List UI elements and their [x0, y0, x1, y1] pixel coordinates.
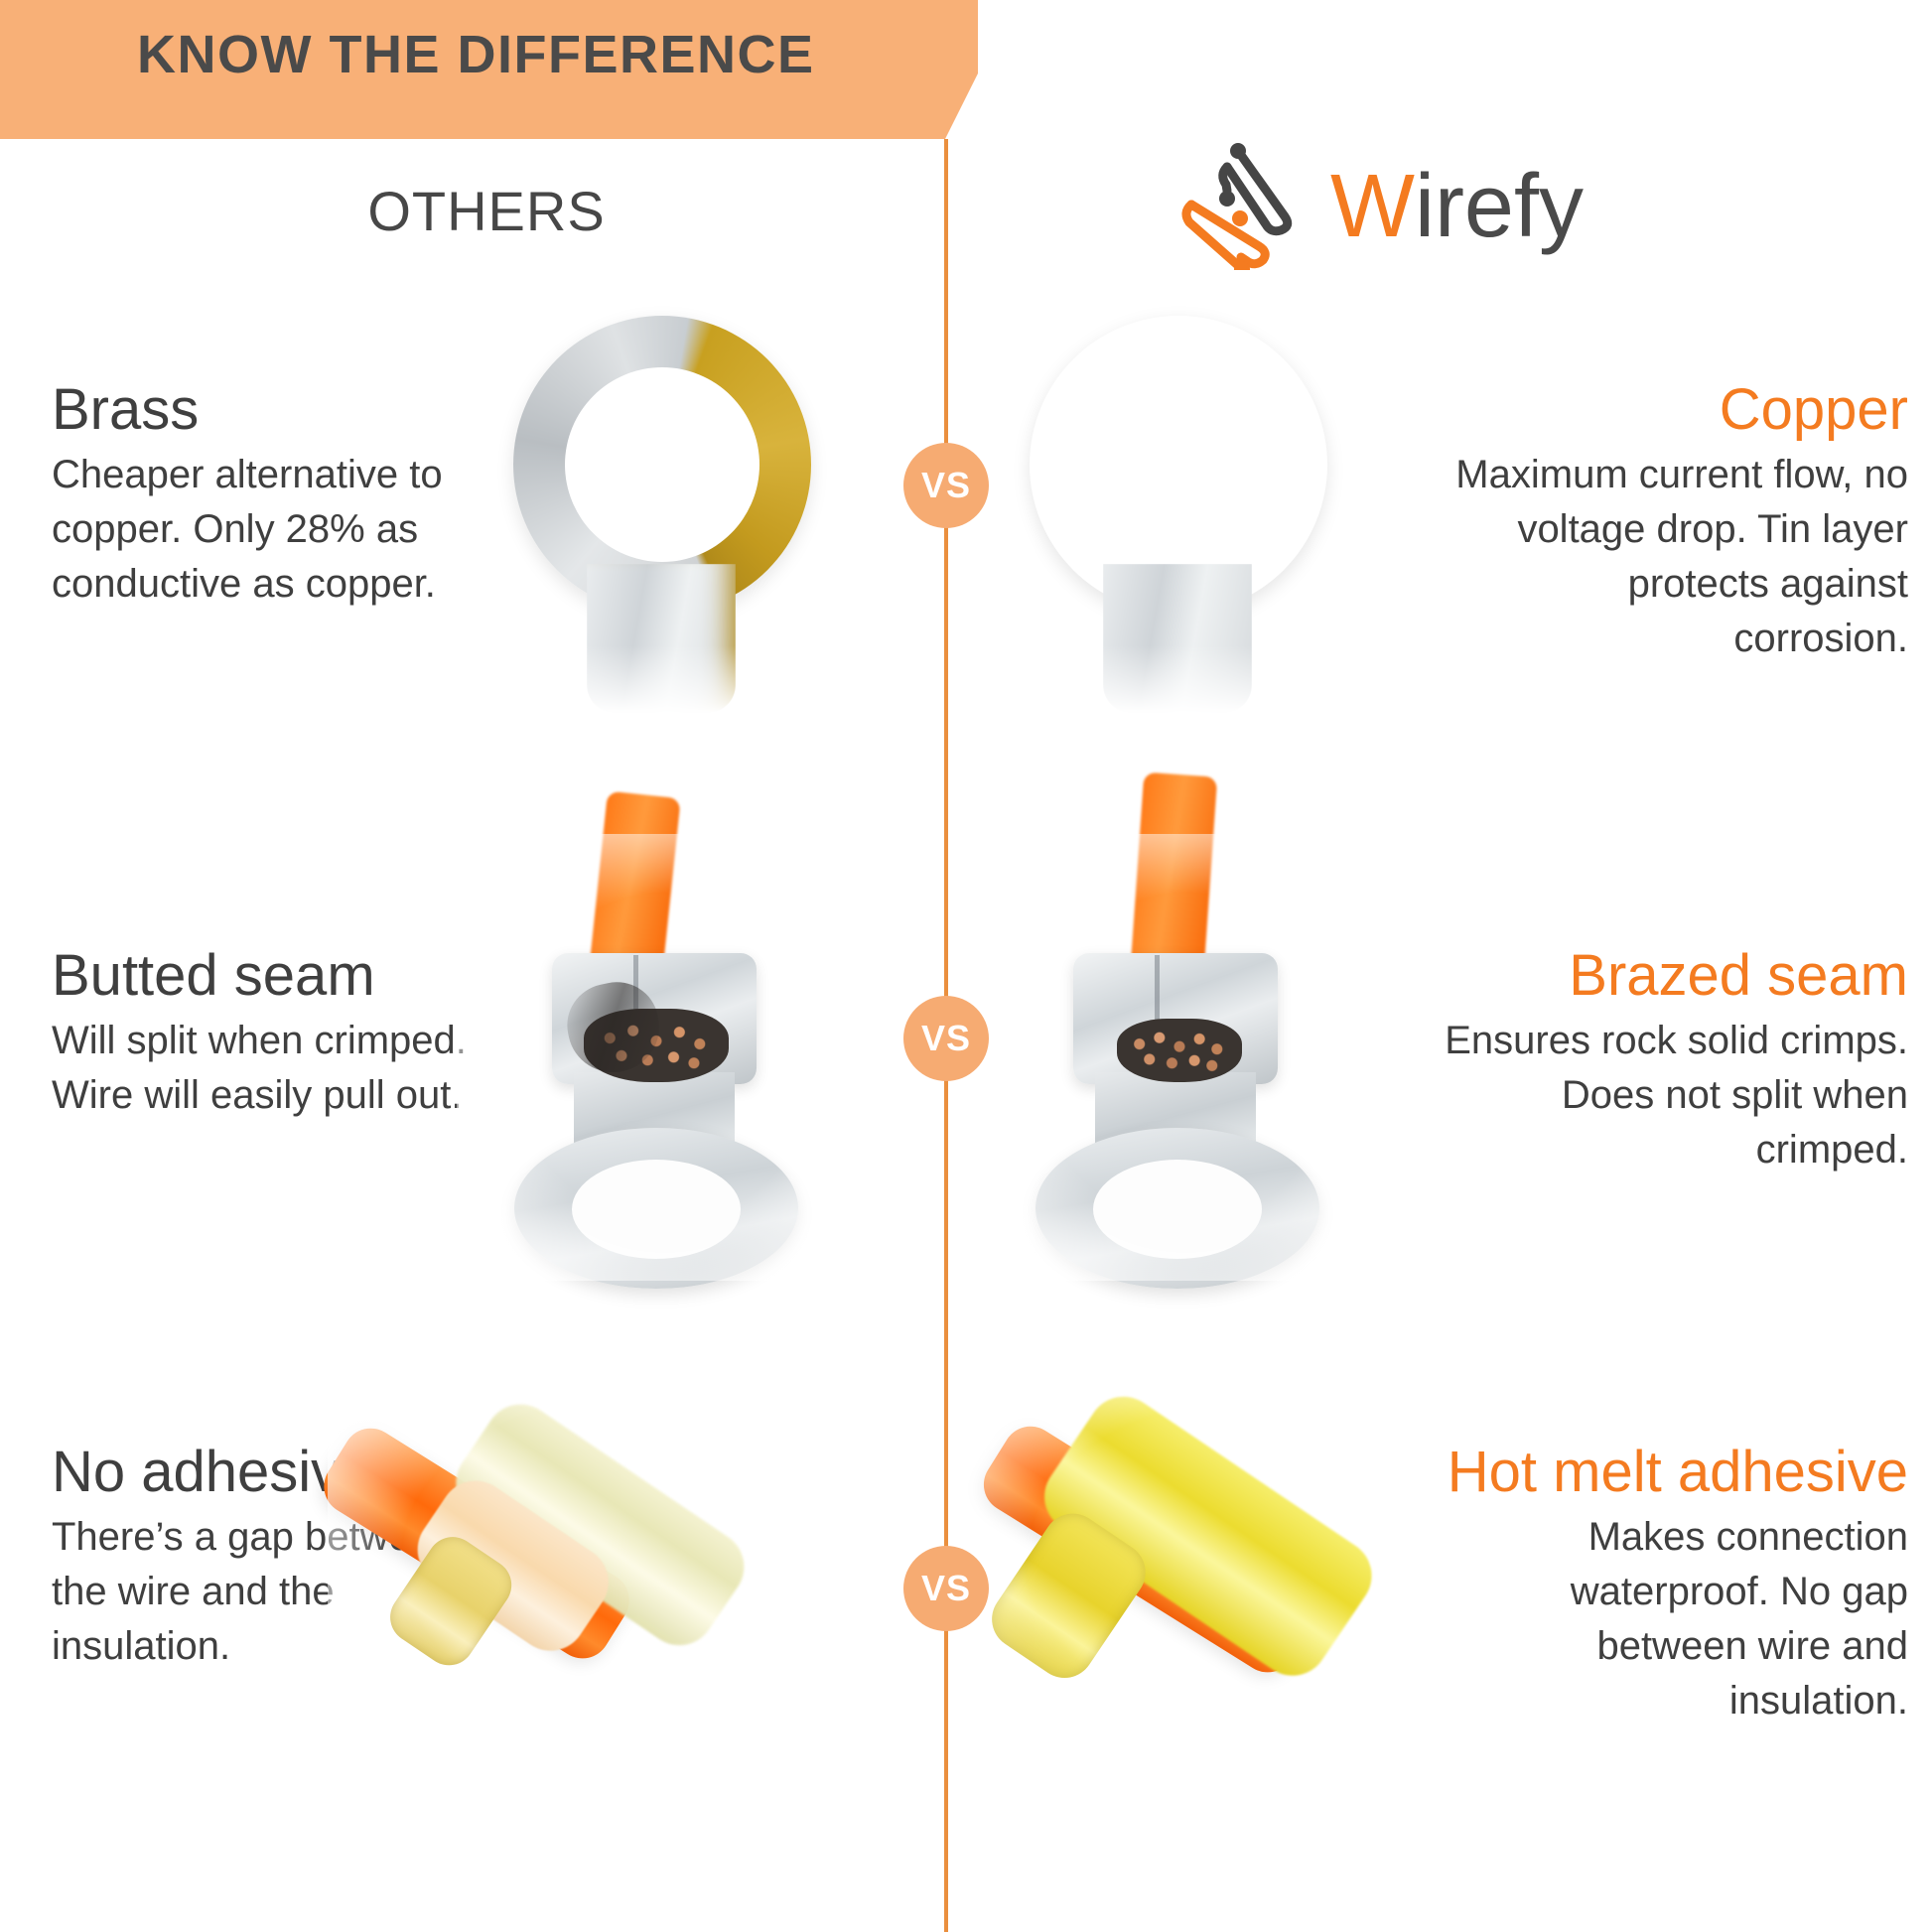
row-1-right-title: Copper — [1451, 379, 1908, 442]
brass-ring-hole — [565, 367, 759, 562]
infographic-page: KNOW THE DIFFERENCE OTHERS Wirefy VS VS — [0, 0, 1932, 1932]
logo-letters-rest: irefy — [1415, 157, 1584, 256]
row-3-right-text: Hot melt adhesive Makes connection water… — [1442, 1442, 1908, 1728]
hot-melt-heatshrink-image — [953, 1350, 1509, 1767]
brazed-copper-strands — [1117, 1019, 1242, 1082]
row-2-right-text: Brazed seam Ensures rock solid crimps. D… — [1412, 945, 1908, 1177]
no-adhesive-heatshrink-image — [328, 1350, 884, 1767]
vs-badge-row-3: VS — [903, 1546, 989, 1631]
vs-badge-row-2: VS — [903, 996, 989, 1081]
row-2-left-text: Butted seam Will split when crimped. Wir… — [52, 945, 508, 1123]
copper-ring-terminal-image — [1030, 316, 1357, 713]
vs-badge-row-1: VS — [903, 443, 989, 528]
row-1-left-title: Brass — [52, 379, 469, 442]
row-1-left-body: Cheaper alternative to copper. Only 28% … — [52, 448, 469, 613]
row-1-right-text: Copper Maximum current flow, no voltage … — [1451, 379, 1908, 666]
row-3-right-title: Hot melt adhesive — [1442, 1442, 1908, 1504]
row-2-left-body: Will split when crimped. Wire will easil… — [52, 1014, 508, 1123]
row-2-right-title: Brazed seam — [1412, 945, 1908, 1008]
page-title: KNOW THE DIFFERENCE — [137, 24, 815, 85]
brazed-ring-tongue — [1035, 1128, 1319, 1289]
butted-ring-tongue — [514, 1128, 798, 1289]
brazed-seam-terminal-image — [978, 834, 1395, 1281]
row-2-left-title: Butted seam — [52, 945, 508, 1008]
wirefy-wire-logo-mark — [1181, 143, 1312, 270]
row-3-right-body: Makes connection waterproof. No gap betw… — [1442, 1510, 1908, 1729]
wirefy-wordmark: Wirefy — [1330, 162, 1584, 251]
brass-ring-terminal-image — [513, 316, 841, 713]
row-2-right-body: Ensures rock solid crimps. Does not spli… — [1412, 1014, 1908, 1178]
wirefy-logo: Wirefy — [1181, 137, 1638, 276]
others-column-heading: OTHERS — [367, 179, 606, 243]
copper-ring-tail — [1103, 564, 1252, 713]
row-1-left-text: Brass Cheaper alternative to copper. Onl… — [52, 379, 469, 612]
brass-ring-tail — [587, 564, 736, 713]
logo-letter-w: W — [1330, 157, 1415, 256]
copper-ring-hole — [1081, 367, 1276, 562]
butted-seam-terminal-image — [457, 834, 874, 1281]
row-1-right-body: Maximum current flow, no voltage drop. T… — [1451, 448, 1908, 667]
